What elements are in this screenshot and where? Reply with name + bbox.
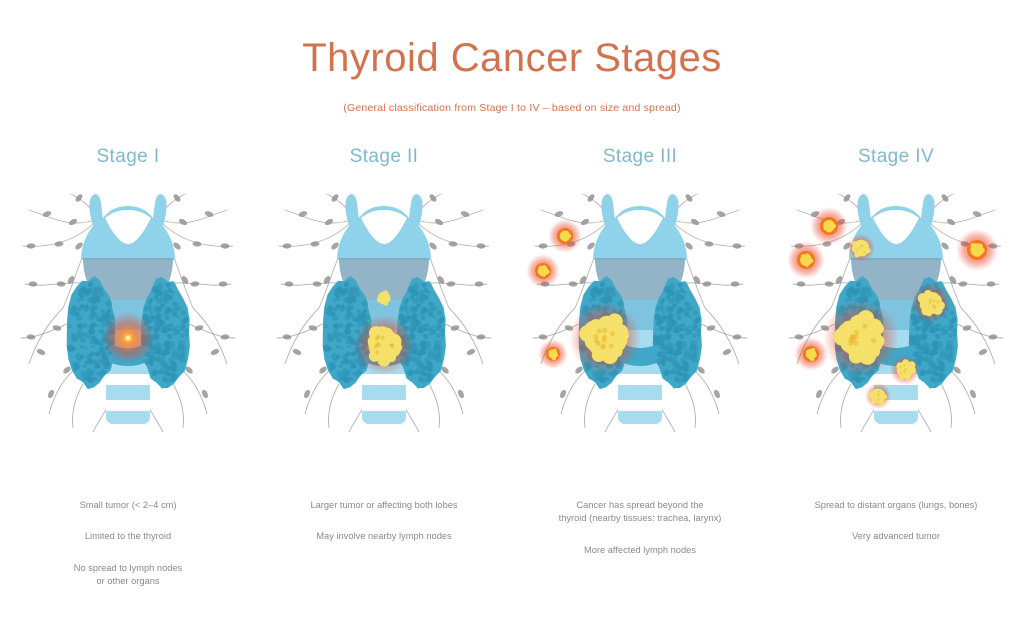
lobe-texture-dot [357,309,361,313]
lobe-texture-dot [344,335,348,339]
lobe-texture-dot [405,309,410,314]
lobe-texture-dot [949,310,954,315]
lobe-texture-dot [169,376,176,383]
lymph-node [722,348,732,356]
tumor-lobule [545,269,550,274]
caption-line: Larger tumor or affecting both lobes [267,499,502,512]
lymph-node [218,281,227,287]
tumor-speckle [594,334,599,339]
page-title: Thyroid Cancer Stages [0,36,1024,80]
lobe-texture-dot [165,283,170,288]
stage-illustration-3 [525,188,755,443]
lobe-texture-dot [81,333,85,337]
lobe-texture-dot [78,291,83,296]
lobe-texture-dot [154,306,161,313]
lobe-texture-dot [861,287,866,292]
lobe-texture-dot [90,370,95,375]
lobe-texture-dot [334,307,338,311]
lobe-texture-dot [697,329,702,334]
lobe-texture-dot [682,360,688,366]
tumor-lobule [976,252,981,257]
lobe-texture-dot [683,365,690,372]
lobe-texture-dot [427,291,431,295]
lobe-texture-dot [425,323,428,326]
lobe-texture-dot [697,333,701,337]
lobe-texture-dot [931,328,936,333]
lobe-texture-dot [182,324,186,328]
lobe-texture-dot [161,303,165,307]
lobe-texture-dot [81,338,86,343]
lobe-texture-dot [100,348,104,352]
lobe-texture-dot [920,372,924,376]
lobe-texture-dot [425,376,432,383]
lobe-texture-dot [693,310,698,315]
tumor-lobule [539,266,542,269]
lobe-texture-dot [432,325,436,329]
tumor-speckle [602,328,607,333]
lymph-node [946,218,956,227]
tumor-lobule [808,258,813,263]
lobe-texture-dot [167,334,172,339]
lobe-texture-dot [675,351,679,355]
lobe-texture-dot [671,368,677,374]
lobe-texture-dot [671,360,678,367]
lobe-texture-dot [939,365,946,372]
tumor-lobule [542,265,546,269]
lymph-node [796,281,805,287]
lymph-node [36,348,46,356]
lobe-texture-dot [337,338,342,343]
lobe-texture-dot [677,365,683,371]
tumor-lobule [800,259,804,263]
lobe-texture-dot [438,351,442,355]
lobe-texture-dot [681,323,684,326]
lobe-texture-dot [347,323,352,328]
tumor-lobule [384,290,388,294]
lobe-texture-dot [96,372,101,377]
tumor-lobule [806,354,809,357]
caption-line: More affected lymph nodes [523,544,758,557]
lobe-texture-dot [680,295,685,300]
lobe-texture-dot [675,328,680,333]
lymph-vessel [328,384,339,428]
lobe-texture-dot [933,340,939,346]
lobe-texture-dot [168,328,171,331]
lymph-node [56,281,65,287]
tumor-speckle [937,301,940,304]
lobe-texture-dot [866,287,871,292]
tumor-lobule [977,244,983,250]
stage-label-4: Stage IV [858,146,934,174]
lobe-texture-dot [677,340,683,346]
lobe-texture-dot [165,307,171,313]
lobe-texture-dot [87,288,93,294]
lobe-texture-dot [83,346,87,350]
lobe-texture-dot [410,289,415,294]
lobe-texture-dot [653,336,659,342]
lobe-texture-dot [344,328,351,335]
lobe-texture-dot [356,320,359,323]
lymph-node [978,348,988,356]
lymph-vessel [429,384,440,428]
lobe-texture-dot [408,372,412,376]
lobe-texture-dot [154,289,159,294]
lobe-texture-dot [610,287,615,292]
lymph-node [292,348,302,356]
tumor-lobule [560,235,564,239]
lobe-texture-dot [336,345,340,349]
lymph-node [815,389,823,399]
tumor-lobule [908,361,916,369]
tumor-lobule [871,399,876,404]
lobe-texture-dot [356,369,362,375]
tumor-lobule [828,220,833,225]
lobe-texture-dot [931,351,935,355]
lobe-texture-dot [675,290,681,296]
caption-line: No spread to lymph nodesor other organs [11,562,246,589]
lobe-texture-dot [666,306,673,313]
tumor-lobule [805,263,809,267]
lobe-texture-dot [346,351,351,356]
lobe-texture-dot [80,355,84,359]
lobe-texture-dot [410,306,417,313]
tumor-lobule [555,354,558,357]
lobe-texture-dot [346,339,352,345]
lobe-texture-dot [424,288,428,292]
lobe-texture-dot [325,309,330,314]
lobe-texture-dot [441,329,446,334]
lobe-texture-dot [91,345,94,348]
lobe-texture-dot [921,333,928,340]
lymph-vessel [925,210,995,223]
lobe-texture-dot [354,287,359,292]
stage-column-1: Stage ISmall tumor (< 2–4 cm)Limited to … [0,146,256,589]
lobe-texture-dot [163,328,168,333]
lobe-texture-dot [80,345,84,349]
lymph-vessel [685,384,696,428]
caption-line: Cancer has spread beyond thethyroid (nea… [523,499,758,526]
tumor-lobule [813,354,816,357]
lymph-node [446,281,455,287]
lymph-vessel [29,210,99,223]
lobe-texture-dot [666,324,673,331]
stage-illustration-4 [781,188,1011,443]
lobe-texture-dot [950,351,954,355]
lymph-vessel [285,210,355,223]
affected-lymph-node [956,229,998,271]
lymph-node [474,281,483,287]
lobe-texture-dot [181,310,186,315]
lobe-texture-dot [344,282,350,288]
trachea-ring-gap-2 [618,400,662,411]
lobe-texture-dot [683,348,689,354]
lobe-texture-dot [93,287,98,292]
trachea-ring-gap-1 [362,374,406,385]
tumor-lobule [538,270,542,274]
tumor-speckle [878,391,880,393]
page-subtitle: (General classification from Stage I to … [0,102,1024,114]
lobe-texture-dot [98,357,104,363]
lobe-texture-dot [67,345,74,352]
lobe-texture-dot [441,333,445,337]
stage-captions-2: Larger tumor or affecting both lobesMay … [267,499,502,544]
lobe-texture-dot [152,372,156,376]
lobe-texture-dot [659,325,663,329]
tumor-speckle [381,336,385,340]
lobe-texture-dot [922,324,929,331]
lobe-texture-dot [343,288,349,294]
lobe-texture-dot [913,351,919,357]
lobe-texture-dot [333,330,339,336]
lobe-texture-dot [657,351,663,357]
stage-label-3: Stage III [603,146,677,174]
lobe-texture-dot [88,282,94,288]
caption-line: Small tumor (< 2–4 cm) [11,499,246,512]
lobe-texture-dot [171,348,177,354]
stage-label-1: Stage I [96,146,159,174]
lobe-texture-dot [939,348,945,354]
lobe-texture-dot [605,287,610,292]
lymph-node [312,281,321,287]
lobe-texture-dot [415,295,421,301]
lobe-texture-dot [677,378,682,383]
lobe-texture-dot [324,325,328,329]
tumor-speckle [929,301,932,304]
tumor-speckle [871,338,876,343]
stage-column-3: Stage IIICancer has spread beyond thethy… [512,146,768,589]
lobe-texture-dot [436,333,441,338]
lobe-texture-dot [935,334,940,339]
tumor-lobule [824,221,828,225]
lobe-texture-dot [80,371,86,377]
tumor-speckle [389,343,393,347]
tumor-speckle [600,345,605,350]
tumor-speckle [854,330,859,335]
tumor-speckle [878,394,880,396]
affected-lymph-node [526,254,560,288]
infographic-page: Thyroid Cancer Stages (General classific… [0,0,1024,619]
lobe-texture-dot [927,368,933,374]
lobe-texture-dot [694,324,698,328]
lobe-texture-dot [946,340,953,347]
lobe-texture-dot [589,299,593,303]
caption-line: Spread to distant organs (lungs, bones) [779,499,1014,512]
stage-column-2: Stage IILarger tumor or affecting both l… [256,146,512,589]
lymph-node [559,389,567,399]
lymph-node [68,218,78,227]
lobe-texture-dot [426,360,432,366]
lobe-texture-dot [333,299,337,303]
tumor-lobule [971,251,975,255]
lymph-node [690,218,700,227]
tumor-hotspot [123,333,133,343]
tumor-lobule [806,350,811,355]
lobe-texture-dot [599,288,605,294]
lobe-texture-dot [74,334,78,338]
lobe-texture-dot [431,306,436,311]
tumor-lobule [810,357,815,362]
lobe-texture-dot [168,288,172,292]
lobe-texture-dot [434,340,441,347]
tumor-speckle [905,368,907,370]
tumor-speckle [375,336,379,340]
lobe-texture-dot [102,314,107,319]
lobe-texture-dot [695,317,700,322]
lobe-texture-dot [432,350,437,355]
lymph-node [706,324,716,331]
tumor-lobule [561,232,565,236]
lymph-node [210,348,220,356]
affected-lymph-node [794,337,828,371]
lymph-node [282,334,291,340]
lobe-texture-dot [688,350,693,355]
lobe-texture-dot [87,377,91,381]
lobe-texture-dot [666,348,672,354]
tumor-speckle [602,338,607,343]
lymph-node [47,389,55,399]
lobe-texture-dot [667,316,673,322]
lobe-texture-dot [411,316,417,322]
lobe-texture-dot [175,306,180,311]
lobe-texture-dot [951,317,956,322]
lobe-texture-dot [85,361,89,365]
lobe-texture-dot [419,290,425,296]
tumor-lobule [554,349,557,352]
lobe-texture-dot [439,317,444,322]
lobe-texture-dot [435,357,442,364]
stage-illustration-1 [13,188,243,443]
tumor-lobule [812,348,815,351]
lymph-node [732,243,741,249]
lobe-texture-dot [347,345,350,348]
lobe-texture-dot [937,323,940,326]
lobe-texture-dot [690,340,697,347]
lobe-texture-dot [683,291,687,295]
lobe-texture-dot [105,300,112,307]
lobe-texture-dot [171,365,178,372]
tumor-lobule [879,400,885,406]
lobe-texture-dot [661,315,666,320]
lymph-node [580,218,590,227]
lymph-node [988,334,997,340]
lobe-texture-dot [415,360,422,367]
lymph-node [220,243,229,249]
lobe-texture-dot [149,306,152,309]
affected-lymph-node [538,339,567,368]
tumor-speckle [900,366,902,368]
lobe-texture-dot [410,324,417,331]
lobe-texture-dot [944,350,949,355]
lobe-texture-dot [78,359,81,362]
lobe-texture-dot [419,328,424,333]
lobe-texture-dot [95,316,100,321]
lymph-node [466,348,476,356]
lymph-vessel [584,384,595,428]
tumor-lobule [823,225,828,230]
lobe-texture-dot [334,291,339,296]
lymph-node [476,243,485,249]
lobe-texture-dot [694,351,698,355]
lobe-texture-dot [692,333,697,338]
tumor-lobule [618,330,629,341]
lymph-vessel [157,210,227,223]
lobe-texture-dot [680,288,684,292]
lobe-texture-dot [168,295,173,300]
tumor-speckle [900,372,902,374]
lobe-texture-dot [351,316,356,321]
tumor-lobule [552,356,556,360]
lymph-node [568,281,577,287]
thyroid-diagram-stage-3 [525,188,755,443]
tumor-lobule [860,249,867,256]
lobe-texture-dot [337,333,341,337]
lobe-texture-dot [661,306,664,309]
lymph-node [284,281,293,287]
lobe-texture-dot [429,312,433,316]
lobe-texture-dot [163,290,169,296]
lymph-node [986,281,995,287]
lobe-texture-dot [68,325,72,329]
lymph-node [730,281,739,287]
lobe-texture-dot [417,303,421,307]
lobe-texture-dot [421,340,427,346]
lobe-texture-dot [69,309,74,314]
lobe-texture-dot [170,360,176,366]
lobe-texture-dot [154,348,160,354]
lobe-texture-dot [149,309,154,314]
lymph-vessel [413,210,483,223]
lobe-texture-dot [421,283,426,288]
lobe-texture-dot [77,299,81,303]
lobe-texture-dot [149,315,154,320]
stage-column-4: Stage IVSpread to distant organs (lungs,… [768,146,1024,589]
lobe-texture-dot [421,378,426,383]
tumor-speckle [860,245,862,247]
tumor-lobule [879,391,884,396]
tumor-lobule [852,245,859,252]
tumor-speckle [609,344,614,349]
lobe-texture-dot [656,359,662,365]
lobe-texture-dot [346,370,351,375]
lymph-node [26,243,35,249]
lobe-texture-dot [185,333,189,337]
lobe-texture-dot [938,360,944,366]
lobe-texture-dot [100,320,103,323]
lobe-texture-dot [677,307,683,313]
lobe-texture-dot [159,295,165,301]
lobe-texture-dot [660,300,664,304]
lymph-node [732,334,741,340]
lobe-texture-dot [427,348,433,354]
lobe-texture-dot [671,295,677,301]
tumor-layer [102,312,154,364]
lobe-texture-dot [77,330,83,336]
lobe-texture-dot [681,376,688,383]
lobe-texture-dot [353,365,357,369]
lymph-vessel [669,210,739,223]
tumor-speckle [863,251,865,253]
caption-line: Very advanced tumor [779,530,1014,543]
lymph-node [794,334,803,340]
lobe-texture-dot [423,334,428,339]
tumor-lobule [827,228,831,232]
tumor-lobule [852,241,857,246]
lymph-node [324,218,334,227]
tumor-speckle [903,370,905,372]
lobe-texture-dot [677,316,681,320]
tumor-lobule [386,297,390,301]
lymph-vessel [173,384,184,428]
